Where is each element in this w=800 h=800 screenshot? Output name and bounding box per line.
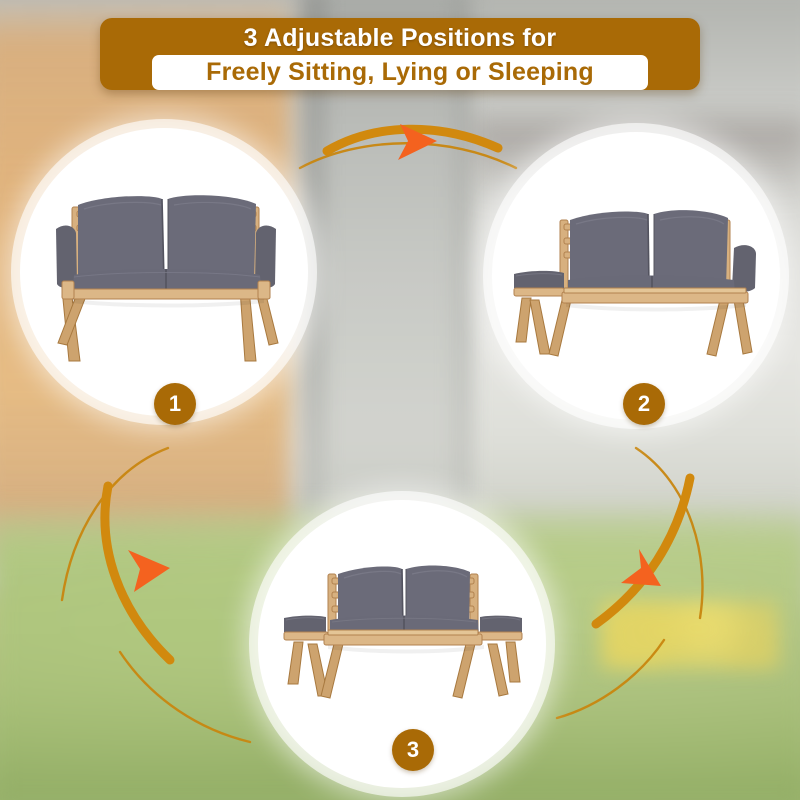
chaise-right-arm-cushion	[732, 245, 756, 292]
daybed-flat-illustration	[272, 556, 534, 710]
daybed-frame-seat	[284, 630, 522, 645]
chaise-extension-cushion	[514, 271, 564, 290]
daybed-right-extension-cushion	[480, 616, 522, 635]
position-badge-2: 2	[623, 383, 665, 425]
arrow-1-to-2	[327, 124, 498, 160]
position-badge-3: 3	[392, 729, 434, 771]
arrow-2-to-3	[596, 478, 690, 624]
banner-headline: 3 Adjustable Positions for	[244, 23, 557, 53]
badge-2-number: 2	[638, 383, 650, 425]
chaise-frame-seat	[514, 288, 748, 303]
guide-arc-bottom-right	[557, 640, 664, 718]
sofa-upright-illustration	[44, 185, 296, 375]
header-banner: 3 Adjustable Positions for Freely Sittin…	[100, 18, 700, 90]
arrowhead-up-left	[128, 550, 170, 592]
banner-subline: Freely Sitting, Lying or Sleeping	[170, 57, 630, 87]
chaise-lounge-illustration	[506, 196, 768, 374]
sofa-legs	[58, 289, 278, 361]
product-feature-image: 1	[0, 0, 800, 800]
badge-3-number: 3	[407, 729, 419, 771]
guide-arc-bottom-left	[120, 652, 250, 742]
arrow-3-to-1	[105, 486, 170, 660]
banner-subline-box: Freely Sitting, Lying or Sleeping	[152, 55, 648, 90]
position-badge-1: 1	[154, 383, 196, 425]
daybed-left-extension-cushion	[284, 616, 326, 635]
badge-1-number: 1	[169, 383, 181, 425]
